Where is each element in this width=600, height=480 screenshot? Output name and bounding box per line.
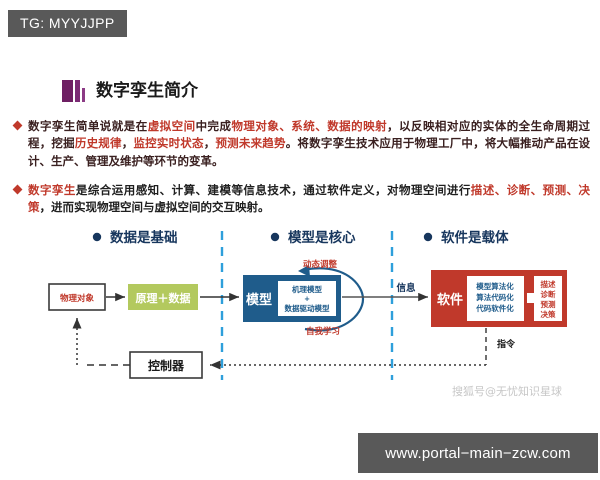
page-title: 数字孪生简介 [96,80,198,102]
text-run-highlight: 数字孪生 [28,183,76,197]
node-software-output-line3: 预测 [541,299,556,309]
column-label-model: 模型是核心 [288,229,356,246]
heading-bar-1-icon [62,80,73,102]
diamond-bullet-icon [13,184,23,194]
column-bullet-icon [93,233,101,241]
text-run: ， [204,136,216,150]
url-bar[interactable]: www.portal−main−zcw.com [358,433,598,473]
node-software-output-line1: 描述 [541,279,556,289]
text-run-highlight: 历史规律 [75,136,122,150]
edge-label-information: 信息 [396,282,416,294]
node-software-inner-line3: 代码软件化 [475,303,514,313]
url-bar-text: www.portal−main−zcw.com [385,445,571,462]
node-model-label: 模型 [246,292,272,308]
edge-label-self-learning: 自我学习 [306,326,340,337]
text-run: 数字孪生简单说就是在 [28,119,148,133]
node-physical-object-label: 物理对象 [60,293,95,304]
digital-twin-diagram: 数据是基础 模型是核心 软件是载体 物理对象 原理＋数据 模型 机理模型 + 数… [20,205,580,385]
node-controller-label: 控制器 [148,358,185,373]
text-run-highlight: 监控实时状态 [133,136,203,150]
text-run: 是综合运用感知、计算、建模等信息技术，通过软件定义，对物理空间进行 [76,183,471,197]
diamond-bullet-icon [13,120,23,130]
watermark-text: 搜狐号@无忧知识星球 [452,385,562,398]
paragraph-1: 数字孪生简单说就是在虚拟空间中完成物理对象、系统、数据的映射，以反映相对应的实体… [14,118,590,171]
text-run-highlight: 虚拟空间 [148,119,196,133]
heading-bar-3-icon [82,88,85,102]
text-run: 中完成 [196,119,232,133]
node-model-inner-plus: + [304,295,310,303]
text-run: ， [122,136,134,150]
tg-badge-label: TG: MYYJJPP [20,15,115,31]
page-heading: 数字孪生简介 [62,76,198,102]
edge-label-instruction: 指令 [497,338,516,350]
node-software-inner-line1: 模型算法化 [476,281,514,291]
text-run-highlight: 物理对象、系统、数据的映射 [231,119,387,133]
node-principle-data-label: 原理＋数据 [136,291,191,305]
node-software-output-line4: 决策 [541,309,556,319]
column-bullet-icon [271,233,279,241]
node-software-inner-line2: 算法代码化 [476,292,514,302]
edge-label-dynamic-adjust: 动态调整 [303,259,338,270]
column-bullet-icon [424,233,432,241]
node-software-label: 软件 [437,292,463,308]
paragraph-1-text: 数字孪生简单说就是在虚拟空间中完成物理对象、系统、数据的映射，以反映相对应的实体… [28,119,590,168]
text-run-highlight: 预测未来趋势 [215,136,285,150]
column-label-data: 数据是基础 [110,229,178,246]
watermark: 搜狐号@无忧知识星球 [452,383,562,399]
tg-badge: TG: MYYJJPP [8,10,127,37]
node-software-output-line2: 诊断 [541,289,556,299]
column-label-software: 软件是载体 [441,229,509,246]
node-model-inner-line2: 数据驱动模型 [285,303,330,313]
node-model-inner-line1: 机理模型 [292,284,322,294]
heading-bar-2-icon [75,80,80,102]
